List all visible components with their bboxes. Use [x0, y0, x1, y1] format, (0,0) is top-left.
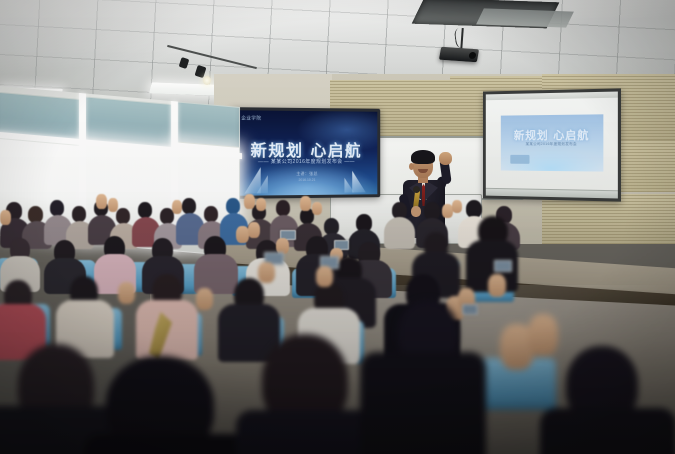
photo-scene: 企业学院 新规划 心启航 —— 某某公司2016年度规划发布会 —— 主讲：张总…: [0, 0, 675, 454]
light-bulb-icon: [203, 76, 211, 85]
audience-body: [384, 217, 415, 249]
audience-head: [204, 206, 218, 222]
speaker-raised-fist: [439, 152, 452, 165]
projection-screen-main: 企业学院 新规划 心启航 —— 某某公司2016年度规划发布会 —— 主讲：张总…: [231, 107, 380, 199]
raised-hand: [172, 200, 182, 214]
smartphone: [462, 304, 478, 315]
raised-hand: [488, 274, 506, 297]
slide-logo: 企业学院: [241, 115, 261, 121]
raised-hand: [108, 198, 118, 212]
audience-head: [138, 202, 152, 218]
projection-screen-secondary: 新规划 心启航 某某公司2016年度规划发布会: [483, 88, 621, 201]
audience: [0, 196, 675, 454]
raised-hand: [528, 314, 558, 356]
audience-body: [540, 408, 675, 454]
slide-title: 新规划 心启航: [501, 127, 604, 143]
raised-hand: [118, 282, 135, 304]
audience-head: [276, 200, 290, 216]
raised-hand: [312, 202, 322, 215]
raised-hand: [256, 198, 266, 211]
projector-lens: [468, 52, 476, 59]
raised-hand: [452, 200, 462, 213]
raised-hand: [0, 210, 11, 225]
audience-head: [226, 198, 240, 214]
slide-subtitle: 某某公司2016年度规划发布会: [501, 142, 604, 147]
audience-head: [72, 206, 86, 222]
slide-subtitle: —— 某某公司2016年度规划发布会 ——: [234, 158, 377, 165]
audience-body: [84, 434, 248, 454]
microphone-capsule: [413, 186, 420, 193]
raised-hand: [316, 266, 333, 287]
audience-head: [116, 208, 130, 224]
smartphone: [494, 260, 512, 272]
slide-logo: [510, 155, 529, 164]
audience-body: [360, 352, 486, 454]
audience-body: [236, 410, 378, 454]
audience-head: [50, 200, 64, 216]
slide-app-toolbar: [486, 92, 618, 101]
speaker-hair: [411, 150, 435, 164]
audience-head: [182, 198, 196, 214]
slide-presenter: 主讲：张总: [234, 171, 377, 178]
air-vent-grille: [476, 8, 574, 27]
raised-hand: [196, 288, 213, 310]
raised-hand: [258, 262, 275, 283]
speaker-ear: [409, 163, 414, 170]
projector-icon: [439, 47, 479, 63]
raised-hand: [300, 196, 311, 211]
raised-hand: [248, 222, 260, 238]
raised-hand: [96, 194, 107, 209]
slide-thumbnail: 新规划 心启航 某某公司2016年度规划发布会: [501, 114, 604, 171]
raised-hand: [244, 194, 255, 209]
